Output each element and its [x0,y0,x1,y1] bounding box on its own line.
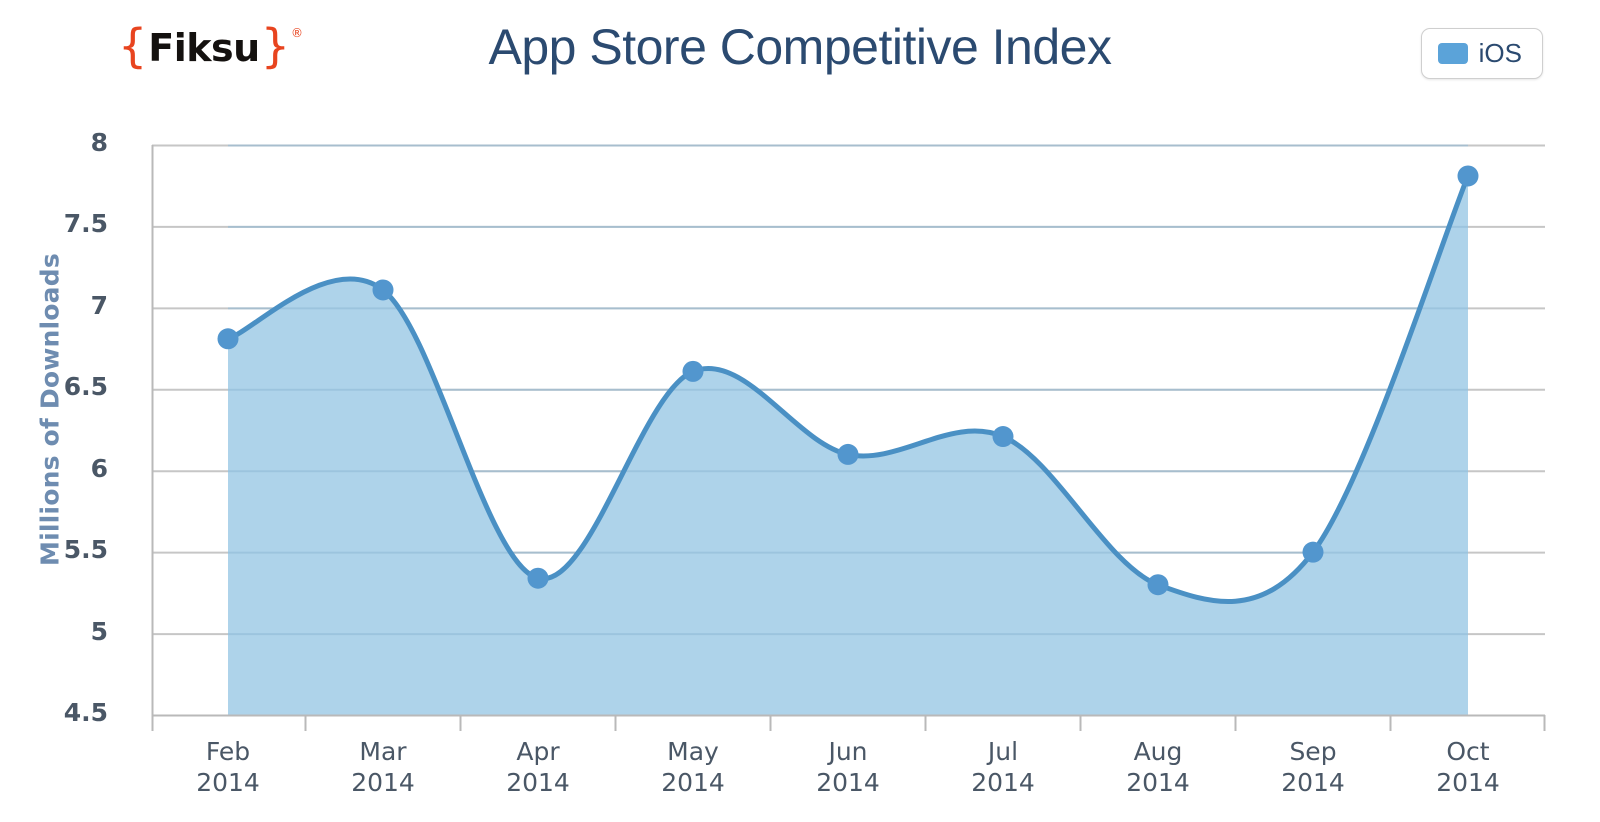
x-tick-month: Jun [768,737,928,768]
x-tick-month: Aug [1078,737,1238,768]
x-tick-year: 2014 [1388,768,1548,799]
y-axis-tick-label: 7.5 [18,209,108,238]
x-tick-year: 2014 [458,768,618,799]
x-tick-year: 2014 [613,768,773,799]
x-tick-month: Oct [1388,737,1548,768]
chart-plot-region: 87.576.565.554.5 Millions of Downloads F… [0,0,1600,822]
area-chart-svg [0,0,1600,822]
x-tick-month: Jul [923,737,1083,768]
x-axis-tick-label: Aug2014 [1078,737,1238,798]
x-axis-tick-label: Mar2014 [303,737,463,798]
x-tick-year: 2014 [303,768,463,799]
x-tick-month: Feb [148,737,308,768]
x-tick-month: May [613,737,773,768]
x-axis-tick-label: Sep2014 [1233,737,1393,798]
x-axis-tick-label: May2014 [613,737,773,798]
x-axis-tick-label: Jul2014 [923,737,1083,798]
x-axis-tick-label: Apr2014 [458,737,618,798]
x-axis-tick-label: Feb2014 [148,737,308,798]
x-axis-tick-label: Oct2014 [1388,737,1548,798]
y-axis-tick-label: 8 [18,128,108,157]
x-tick-year: 2014 [148,768,308,799]
x-tick-month: Apr [458,737,618,768]
x-tick-year: 2014 [923,768,1083,799]
x-tick-year: 2014 [1233,768,1393,799]
x-axis-tick-label: Jun2014 [768,737,928,798]
y-axis-tick-label: 5 [18,617,108,646]
y-axis-tick-label: 4.5 [18,698,108,727]
x-tick-year: 2014 [1078,768,1238,799]
y-axis-title: Millions of Downloads [36,245,65,575]
x-axis-tick-marks [306,715,1391,731]
x-tick-year: 2014 [768,768,928,799]
x-tick-month: Mar [303,737,463,768]
x-tick-month: Sep [1233,737,1393,768]
